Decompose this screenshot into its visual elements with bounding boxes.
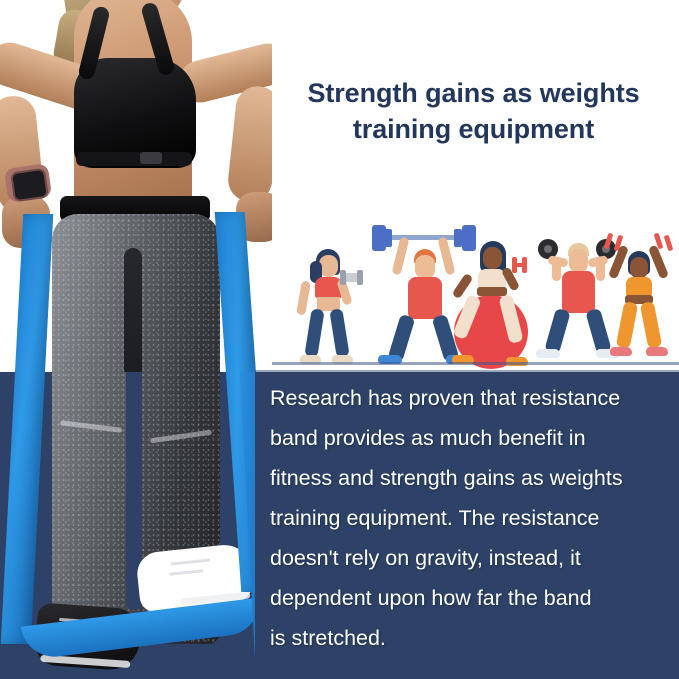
- head: [483, 247, 502, 269]
- exercise-illustration-strip: [272, 222, 679, 373]
- shoe-right: [646, 347, 668, 356]
- dumbbell-bar: [514, 263, 524, 267]
- leg-right: [640, 301, 663, 349]
- figure-woman-with-dumbbell: [290, 245, 362, 365]
- page-title: Strength gains as weights training equip…: [268, 76, 679, 147]
- shoe-lace: [170, 558, 210, 565]
- body-line: doesn't rely on gravity, instead, it: [270, 538, 670, 578]
- bra-clip: [140, 152, 162, 164]
- arm-left: [608, 245, 629, 280]
- body-line: dependent upon how far the band: [270, 578, 670, 618]
- description-text: Research has proven that resistance band…: [270, 378, 670, 658]
- dumbbell-right-b: [664, 235, 674, 252]
- figure-woman-on-exercise-ball: [448, 237, 544, 365]
- leg-right: [329, 308, 349, 357]
- dumbbell-plate: [340, 270, 346, 285]
- dumbbell-left: [604, 233, 614, 250]
- right-forearm: [226, 84, 272, 204]
- smartwatch-face: [10, 168, 49, 203]
- barbell-plate-left-inner: [384, 229, 392, 247]
- arm-left: [296, 280, 311, 315]
- dumbbell-left-core: [544, 245, 552, 253]
- inner-leg-shadow: [124, 248, 142, 372]
- leg-left: [544, 308, 571, 354]
- athlete-photo: [0, 0, 272, 679]
- torso: [408, 277, 442, 319]
- title-line-1: Strength gains as weights: [268, 76, 679, 112]
- arm-right-lower: [596, 261, 605, 281]
- shoe-left: [536, 349, 560, 358]
- figure-woman-arms-raised: [606, 233, 672, 365]
- arm-left: [392, 236, 410, 275]
- ground-line: [272, 362, 679, 365]
- arm-right: [648, 245, 669, 280]
- dumbbell-plate: [357, 270, 363, 285]
- body-line: band provides as much benefit in: [270, 418, 670, 458]
- description-panel: Research has proven that resistance band…: [255, 372, 679, 679]
- shoe-left: [610, 347, 632, 356]
- body-line: training equipment. The resistance: [270, 498, 670, 538]
- arm-left-lower: [552, 261, 561, 281]
- waistband: [477, 287, 507, 296]
- shoe-lace: [169, 569, 203, 576]
- torso-top: [626, 277, 652, 297]
- head: [569, 249, 588, 273]
- head: [630, 257, 648, 279]
- leg-left: [304, 308, 324, 357]
- title-line-2: training equipment: [268, 112, 679, 148]
- head: [415, 255, 435, 279]
- body-line: Research has proven that resistance: [270, 378, 670, 418]
- torso: [562, 271, 595, 313]
- product-infographic: Strength gains as weights training equip…: [0, 0, 679, 679]
- leg-left: [616, 301, 639, 349]
- body-line: fitness and strength gains as weights: [270, 458, 670, 498]
- bra-underband: [76, 152, 192, 166]
- body-line: is stretched.: [270, 618, 670, 658]
